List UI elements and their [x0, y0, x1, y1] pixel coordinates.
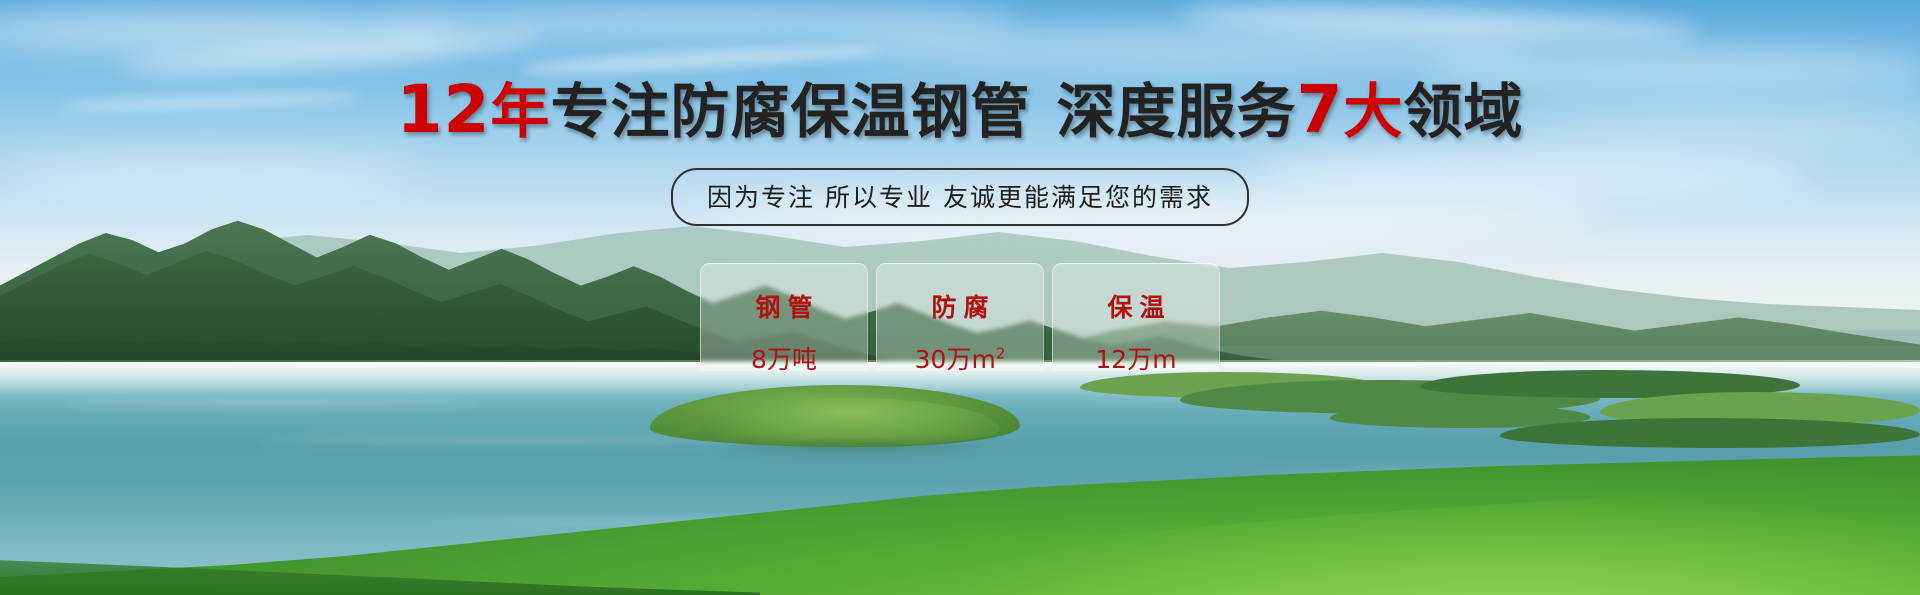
headline-segment-fields: 领域 — [1403, 77, 1523, 146]
stat-card-value: 30万m2 — [915, 340, 1006, 376]
stat-value-main: 12万m — [1095, 345, 1176, 374]
stat-card-value: 8万吨 — [751, 340, 817, 376]
hero-banner: 12年专注防腐保温钢管深度服务7大领域 因为专注 所以专业 友诚更能满足您的需求… — [0, 0, 1920, 595]
stat-value-main: 8万吨 — [751, 345, 817, 374]
stat-card: 钢管 8万吨 — [700, 263, 868, 371]
stat-card: 防腐 30万m2 — [876, 263, 1044, 371]
headline-segment-service: 深度服务 — [1056, 77, 1296, 146]
headline-years-number: 12 — [397, 71, 491, 148]
headline-years-unit: 年 — [490, 77, 550, 146]
stat-card-group: 钢管 8万吨 防腐 30万m2 保温 12万m — [0, 263, 1920, 371]
headline-fields-number: 7 — [1296, 71, 1343, 148]
page-title: 12年专注防腐保温钢管深度服务7大领域 — [0, 77, 1920, 143]
banner-content: 12年专注防腐保温钢管深度服务7大领域 因为专注 所以专业 友诚更能满足您的需求… — [0, 0, 1920, 595]
subtitle-pill: 因为专注 所以专业 友诚更能满足您的需求 — [671, 168, 1249, 226]
stat-value-main: 30万m — [915, 345, 996, 374]
stat-card-label: 保温 — [1100, 288, 1171, 324]
subtitle-container: 因为专注 所以专业 友诚更能满足您的需求 — [0, 168, 1920, 226]
headline-segment-focus: 专注防腐保温钢管 — [550, 77, 1030, 146]
headline-fields-measure: 大 — [1343, 77, 1403, 146]
stat-card-value: 12万m — [1095, 340, 1176, 376]
stat-card-label: 钢管 — [748, 288, 819, 324]
stat-card-label: 防腐 — [924, 288, 995, 324]
stat-card: 保温 12万m — [1052, 263, 1220, 371]
stat-value-exponent: 2 — [996, 345, 1006, 363]
